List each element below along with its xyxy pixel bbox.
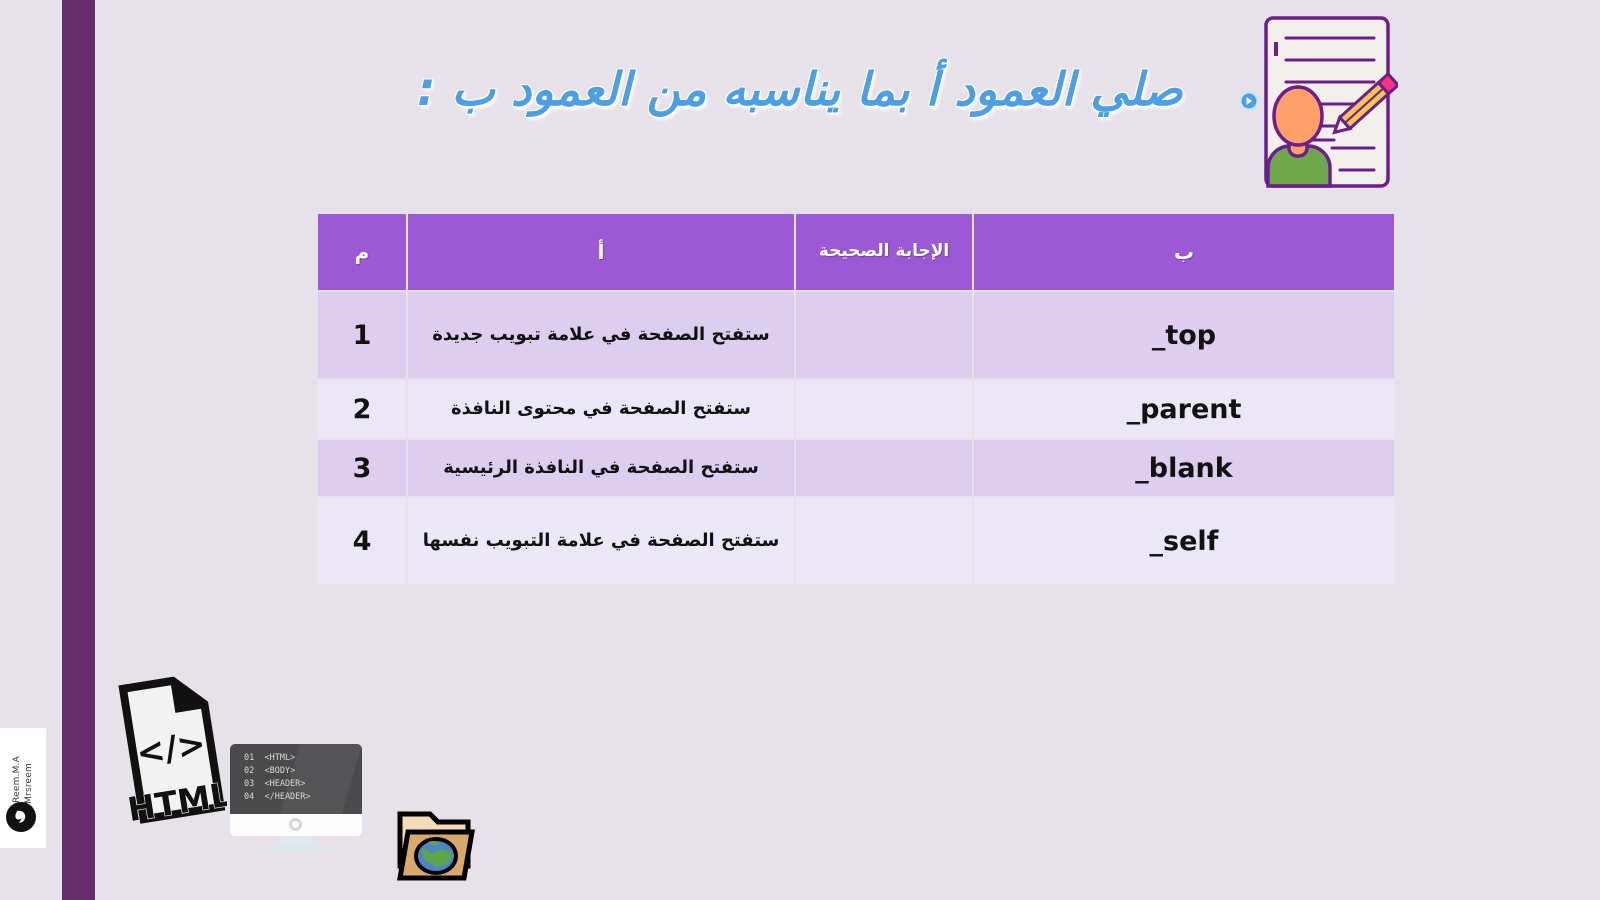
folder-globe-icon bbox=[392, 806, 480, 884]
cell-column-a: ستفتح الصفحة في علامة تبويب جديدة bbox=[408, 292, 794, 378]
table-header-a: أ bbox=[408, 214, 794, 290]
table-row: _blank ستفتح الصفحة في النافذة الرئيسية … bbox=[318, 440, 1394, 496]
table-row: _top ستفتح الصفحة في علامة تبويب جديدة 1 bbox=[318, 292, 1394, 378]
cell-column-a: ستفتح الصفحة في النافذة الرئيسية bbox=[408, 440, 794, 496]
cell-answer-blank[interactable] bbox=[796, 498, 972, 584]
cell-answer-blank[interactable] bbox=[796, 440, 972, 496]
monitor-power-knob-icon bbox=[289, 818, 302, 831]
table-row: _self ستفتح الصفحة في علامة التبويب نفسه… bbox=[318, 498, 1394, 584]
cell-row-number: 4 bbox=[318, 498, 406, 584]
cell-column-a: ستفتح الصفحة في علامة التبويب نفسها bbox=[408, 498, 794, 584]
monitor-screen: 01 <HTML> 02 <BODY> 03 <HEADER> 04 </HEA… bbox=[230, 744, 362, 814]
matching-table: ب الإجابة الصحيحة أ م _top ستفتح الصفحة … bbox=[316, 212, 1396, 586]
table-header-b: ب bbox=[974, 214, 1394, 290]
cell-column-b: _blank bbox=[974, 440, 1394, 496]
page-title: صلي العمود أ بما يناسبه من العمود ب : bbox=[360, 62, 1240, 116]
table-row: _parent ستفتح الصفحة في محتوى النافذة 2 bbox=[318, 380, 1394, 438]
watermark-badge-icon bbox=[6, 802, 36, 832]
table-header-number: م bbox=[318, 214, 406, 290]
slide-canvas: @Mrsreem By: Reem.M.A صلي العمود أ بما ي… bbox=[0, 0, 1600, 900]
cell-answer-blank[interactable] bbox=[796, 292, 972, 378]
monitor-code-text: 01 <HTML> 02 <BODY> 03 <HEADER> 04 </HEA… bbox=[244, 752, 311, 804]
cell-row-number: 1 bbox=[318, 292, 406, 378]
table-header-answer: الإجابة الصحيحة bbox=[796, 214, 972, 290]
cell-answer-blank[interactable] bbox=[796, 380, 972, 438]
cell-row-number: 3 bbox=[318, 440, 406, 496]
cell-column-b: _top bbox=[974, 292, 1394, 378]
monitor-code-illustration: 01 <HTML> 02 <BODY> 03 <HEADER> 04 </HEA… bbox=[230, 744, 362, 850]
left-accent-bar bbox=[62, 0, 95, 900]
document-writing-illustration bbox=[1248, 10, 1398, 195]
html-file-icon: </> HTML bbox=[115, 668, 227, 830]
cell-column-b: _self bbox=[974, 498, 1394, 584]
cell-column-a: ستفتح الصفحة في محتوى النافذة bbox=[408, 380, 794, 438]
cell-row-number: 2 bbox=[318, 380, 406, 438]
monitor-foot bbox=[258, 844, 334, 852]
table-header-row: ب الإجابة الصحيحة أ م bbox=[318, 214, 1394, 290]
cell-column-b: _parent bbox=[974, 380, 1394, 438]
